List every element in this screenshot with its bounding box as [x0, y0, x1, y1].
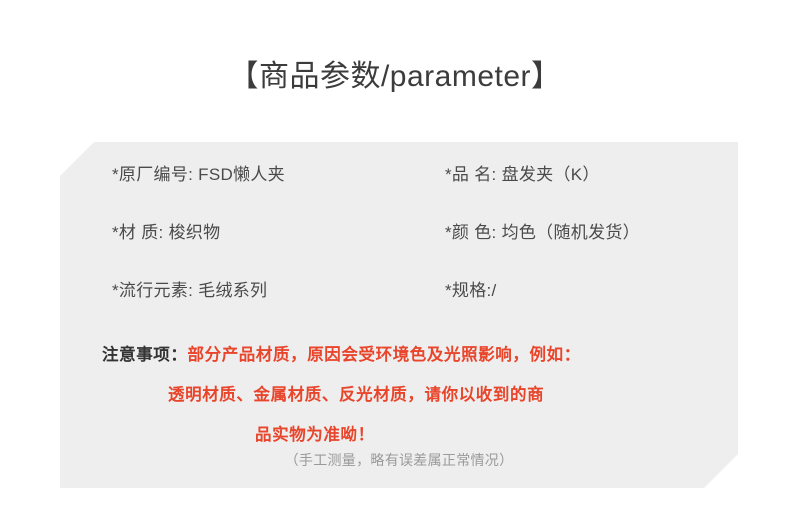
notice-text-line-1: 部分产品材质，原因会受环境色及光照影响，例如： [188, 346, 581, 364]
page-title: 【商品参数/parameter】 [0, 57, 790, 97]
spec-specification: *规格:/ [445, 280, 497, 302]
parameter-card-inner: *原厂编号: FSD懒人夹 *品 名: 盘发夹（K） *材 质: 梭织物 *颜 … [60, 142, 738, 488]
spec-row: *原厂编号: FSD懒人夹 *品 名: 盘发夹（K） [60, 164, 738, 222]
spec-material: *材 质: 梭织物 [112, 222, 221, 244]
parameter-card: *原厂编号: FSD懒人夹 *品 名: 盘发夹（K） *材 质: 梭织物 *颜 … [60, 142, 738, 488]
page-title-text: 【商品参数/parameter】 [228, 57, 561, 97]
notice-line: 注意事项：部分产品材质，原因会受环境色及光照影响，例如： [60, 335, 738, 375]
spec-product-name: *品 名: 盘发夹（K） [445, 164, 600, 186]
spec-color: *颜 色: 均色（随机发货） [445, 222, 640, 244]
product-parameter-page: 【商品参数/parameter】 *原厂编号: FSD懒人夹 *品 名: 盘发夹… [0, 0, 790, 527]
notice-text-line-3: 品实物为准呦！ [60, 415, 738, 455]
notice-text-line-2: 透明材质、金属材质、反光材质，请你以收到的商 [60, 375, 738, 415]
notice-block: 注意事项：部分产品材质，原因会受环境色及光照影响，例如： 透明材质、金属材质、反… [60, 335, 738, 455]
spec-trend-element: *流行元素: 毛绒系列 [112, 280, 267, 302]
spec-row: *材 质: 梭织物 *颜 色: 均色（随机发货） [60, 222, 738, 280]
notice-label: 注意事项： [102, 346, 188, 364]
spec-grid: *原厂编号: FSD懒人夹 *品 名: 盘发夹（K） *材 质: 梭织物 *颜 … [60, 164, 738, 338]
spec-factory-number: *原厂编号: FSD懒人夹 [112, 164, 285, 186]
spec-row: *流行元素: 毛绒系列 *规格:/ [60, 280, 738, 338]
measurement-footnote: （手工测量，略有误差属正常情况） [60, 450, 738, 470]
